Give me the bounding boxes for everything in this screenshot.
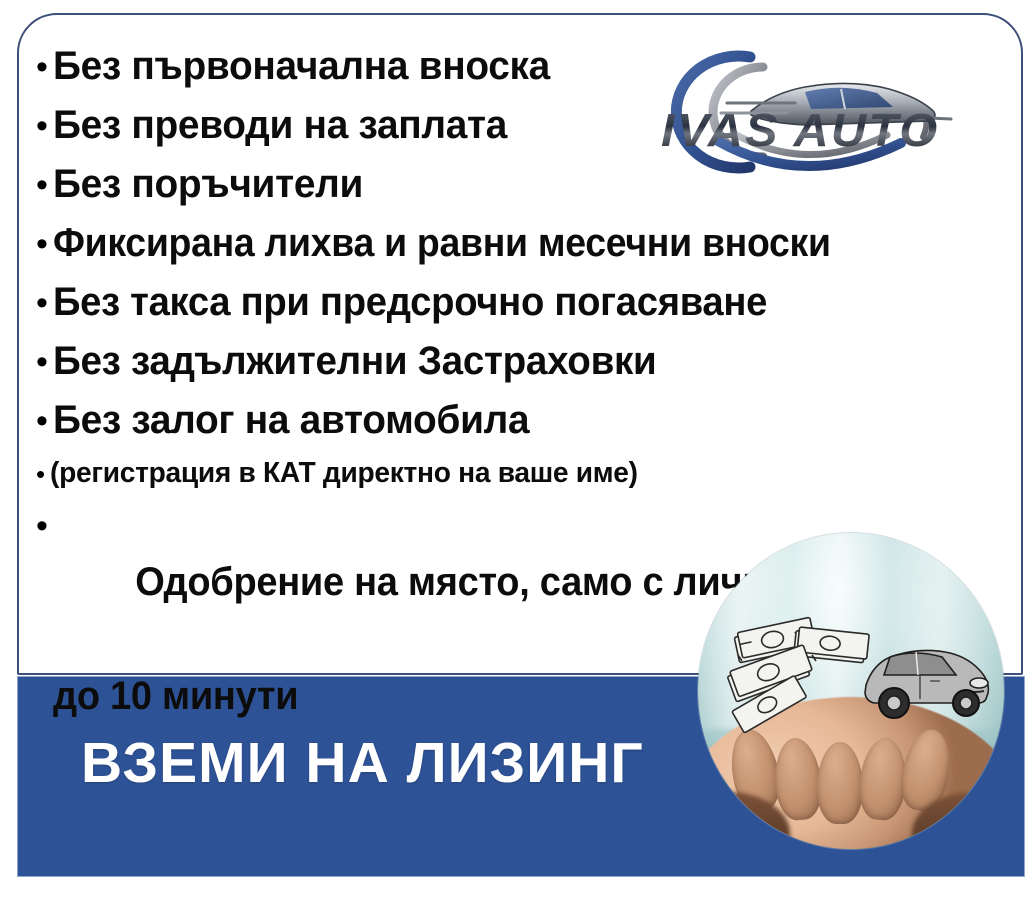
hands-money-car-photo	[698, 533, 1004, 849]
bullet-dot-icon: •	[36, 392, 48, 438]
car-sketch	[865, 650, 988, 718]
list-item-label: Фиксирана лихва и равни месечни вноски	[53, 215, 831, 272]
list-item: • Фиксирана лихва и равни месечни вноски	[36, 215, 1011, 272]
list-item-label: Без залог на автомобила	[53, 392, 529, 449]
money-stacks-sketch	[726, 617, 869, 733]
bullet-dot-icon: •	[36, 156, 48, 202]
list-item: • Без такса при предсрочно погасяване	[36, 274, 1011, 331]
list-item-label: Без задължителни Застраховки	[53, 333, 657, 390]
bullet-dot-icon: •	[36, 451, 45, 487]
bullet-dot-icon: •	[36, 97, 48, 143]
list-item-label: Без преводи на заплата	[53, 97, 507, 154]
list-item: • Без първоначална вноска	[36, 38, 1011, 95]
advert-poster: • Без първоначална вноска • Без преводи …	[0, 0, 1033, 902]
photo-overlay-sketches	[698, 533, 1004, 849]
list-item-note-label: (регистрация в КАТ директно на ваше име)	[50, 451, 638, 495]
list-item: • Без задължителни Застраховки	[36, 333, 1011, 390]
bullet-dot-icon: •	[36, 215, 48, 261]
bullet-dot-icon: •	[36, 274, 48, 320]
list-item-label: Без такса при предсрочно погасяване	[53, 274, 767, 331]
list-item-note: • (регистрация в КАТ директно на ваше им…	[36, 451, 1011, 495]
list-item-label: Без поръчители	[53, 156, 363, 213]
list-item: • Без залог на автомобила	[36, 392, 1011, 449]
list-item: • Без преводи на заплата	[36, 97, 1011, 154]
bullet-dot-icon: •	[36, 38, 48, 84]
bullet-dot-icon: •	[36, 497, 48, 543]
bullet-dot-icon: •	[36, 333, 48, 379]
list-item-label: Без първоначална вноска	[53, 38, 550, 95]
list-item: • Без поръчители	[36, 156, 1011, 213]
